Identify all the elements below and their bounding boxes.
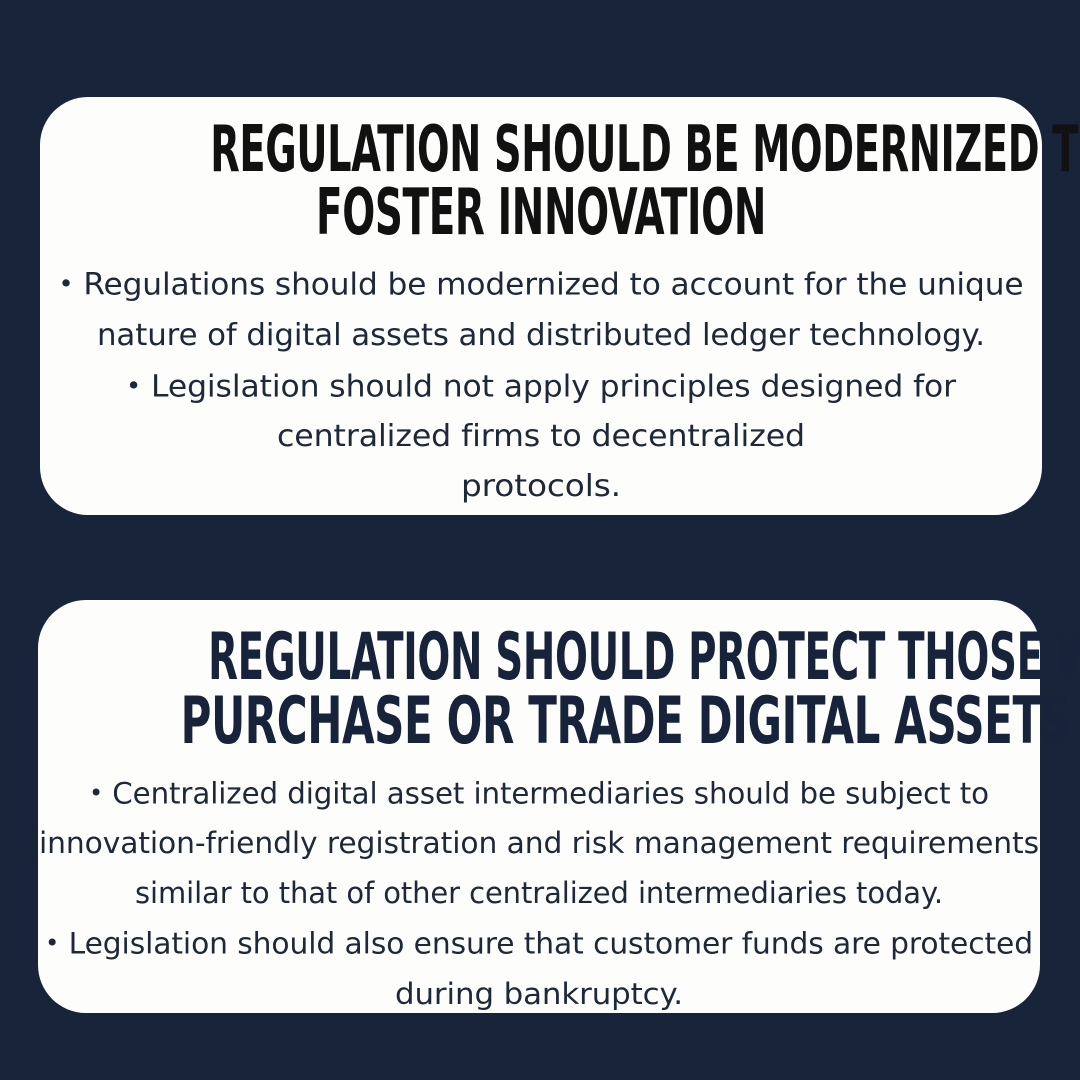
card-1-heading: REGULATION SHOULD BE MODERNIZED TO FOSTE… [146, 119, 936, 245]
card-1-body-line-2: nature of digital assets and distributed… [30, 311, 1052, 361]
card-2-heading-line-2: PURCHASE OR TRADE DIGITAL ASSETS [181, 690, 898, 754]
card-1-body-line-5: protocols. [0, 462, 1080, 512]
card-2-body-line-3-text: similar to that of other centralized int… [135, 876, 943, 910]
card-2-heading: REGULATION SHOULD PROTECT THOSE WHO PURC… [142, 626, 935, 754]
card-2-body-line-3: similar to that of other centralized int… [48, 868, 1029, 918]
principle-card-2: REGULATION SHOULD PROTECT THOSE WHO PURC… [38, 600, 1040, 1013]
card-1-body-line-4-text: centralized firms to decentralized [277, 419, 805, 454]
bullet-icon: • [126, 371, 141, 400]
card-2-body-line-1-text: Centralized digital asset intermediaries… [112, 776, 989, 810]
bullet-icon: • [89, 779, 103, 807]
card-2-body-line-4: • Legislation should also ensure that cu… [36, 918, 1042, 968]
slide-canvas: REGULATION SHOULD BE MODERNIZED TO FOSTE… [0, 0, 1080, 1080]
card-1-body-line-1-text: Regulations should be modernized to acco… [83, 268, 1023, 303]
card-1-body-line-4: centralized firms to decentralized [17, 412, 1064, 462]
card-1-body: • Regulations should be modernized to ac… [61, 259, 1020, 512]
card-2-body-line-1: • Centralized digital asset intermediari… [43, 768, 1034, 818]
card-1-body-line-5-text: protocols. [461, 469, 621, 504]
bullet-icon: • [58, 269, 73, 298]
card-1-heading-line-1: REGULATION SHOULD BE MODERNIZED TO [210, 119, 872, 182]
card-1-body-line-1: • Regulations should be modernized to ac… [24, 259, 1058, 310]
bullet-icon: • [45, 929, 59, 957]
card-1-heading-line-2: FOSTER INNOVATION [206, 182, 877, 245]
card-2-body-line-2: innovation-friendly registration and ris… [36, 818, 1042, 868]
card-2-body-line-5: during bankruptcy. [17, 969, 1061, 1019]
card-1-body-line-2-text: nature of digital assets and distributed… [97, 318, 985, 353]
card-2-heading-line-1: REGULATION SHOULD PROTECT THOSE WHO [208, 626, 870, 690]
card-1-body-line-3: • Legislation should not apply principle… [20, 361, 1062, 412]
card-2-body-line-5-text: during bankruptcy. [395, 977, 683, 1011]
card-1-body-line-3-text: Legislation should not apply principles … [151, 369, 956, 404]
card-2-body-line-2-text: innovation-friendly registration and ris… [39, 826, 1039, 860]
card-2-body: • Centralized digital asset intermediari… [57, 768, 1020, 1019]
principle-card-1: REGULATION SHOULD BE MODERNIZED TO FOSTE… [40, 97, 1042, 515]
card-2-body-line-4-text: Legislation should also ensure that cust… [69, 927, 1033, 961]
